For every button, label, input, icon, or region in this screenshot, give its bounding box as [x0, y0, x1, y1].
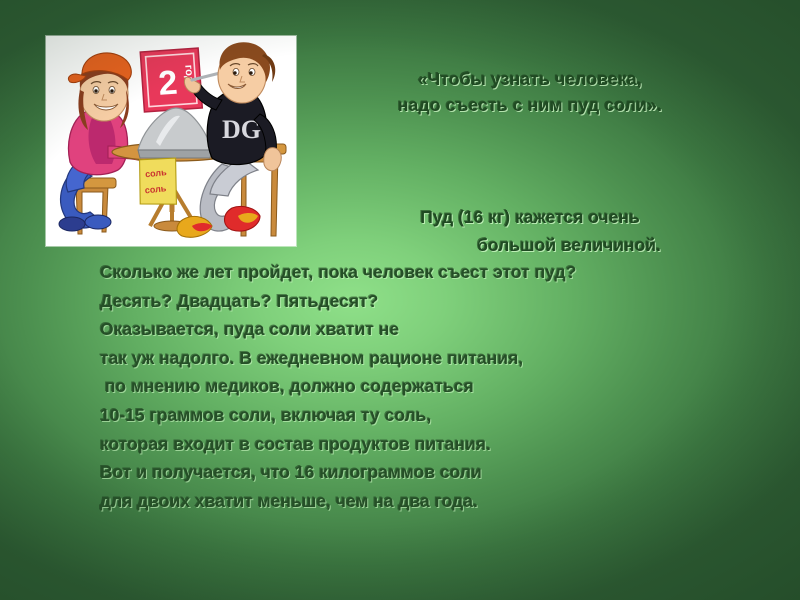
body-line-1: Сколько же лет пройдет, пока человек съе… — [100, 258, 760, 287]
quote-block: «Чтобы узнать человека, надо съесть с ни… — [330, 66, 730, 118]
slide-canvas: 2 года — [0, 0, 800, 600]
quote-line-1: «Чтобы узнать человека, — [418, 69, 642, 89]
body-line-5: по мнению медиков, должно содержаться — [100, 372, 760, 401]
pud-statement-block: Пуд (16 кг) кажется очень большой величи… — [330, 203, 730, 259]
text-content: «Чтобы узнать человека, надо съесть с ни… — [0, 0, 800, 600]
body-line-8: Вот и получается, что 16 килограммов сол… — [100, 458, 760, 487]
body-paragraph: Сколько же лет пройдет, пока человек съе… — [100, 258, 760, 515]
pud-line-1: Пуд (16 кг) кажется очень — [330, 203, 730, 231]
quote-line-2: надо съесть с ним пуд соли». — [398, 95, 662, 115]
pud-line-2: большой величиной. — [330, 231, 730, 259]
body-line-9: для двоих хватит меньше, чем на два года… — [100, 487, 760, 516]
body-line-3: Оказывается, пуда соли хватит не — [100, 315, 760, 344]
body-line-7: которая входит в состав продуктов питани… — [100, 430, 760, 459]
body-line-4: так уж надолго. В ежедневном рационе пит… — [100, 344, 760, 373]
body-line-2: Десять? Двадцать? Пятьдесят? — [100, 287, 760, 316]
body-line-6: 10-15 граммов соли, включая ту соль, — [100, 401, 760, 430]
